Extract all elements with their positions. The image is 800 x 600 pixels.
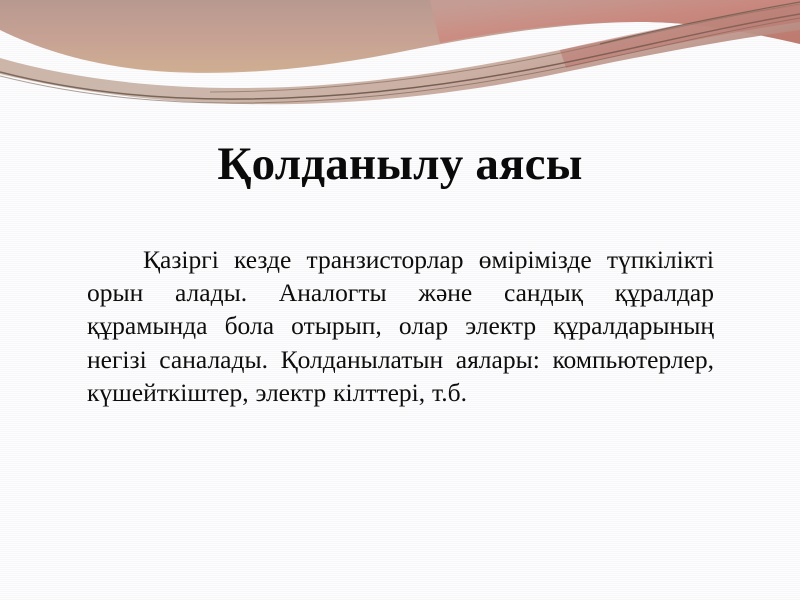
slide-canvas: Қолданылу аясы Қазіргі кезде транзисторл…	[0, 0, 800, 600]
slide-title-text: Қолданылу аясы	[217, 139, 582, 190]
body-paragraph: Қазіргі кезде транзисторлар өмірімізде т…	[87, 243, 714, 409]
header-wave-decoration	[0, 0, 800, 110]
body-text-block: Қазіргі кезде транзисторлар өмірімізде т…	[87, 243, 714, 409]
page-title: Қолданылу аясы	[0, 139, 800, 190]
